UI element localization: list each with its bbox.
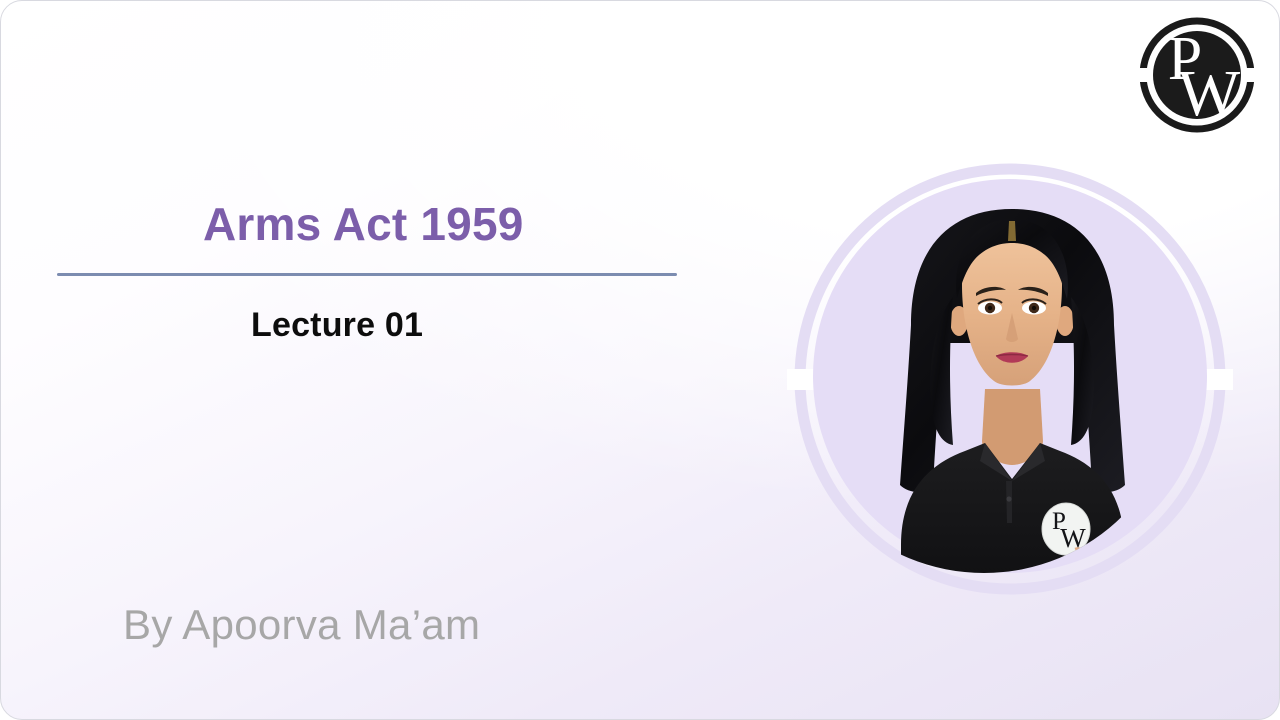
forearm-upper xyxy=(1061,561,1097,625)
instructor-portrait: P W JUDICIARY WALLAH xyxy=(849,193,1179,641)
pupil-left xyxy=(988,306,992,310)
title-block: Arms Act 1959 Lecture 01 xyxy=(57,197,697,345)
pw-logo-letter-w: W xyxy=(1178,57,1241,130)
lecture-subtitle: Lecture 01 xyxy=(57,276,697,345)
portrait-group: P W JUDICIARY WALLAH xyxy=(787,141,1233,609)
shirt-placket xyxy=(1006,481,1012,523)
forearm-lower xyxy=(918,587,1098,637)
sleeve-right xyxy=(1059,587,1107,627)
arms-shirt-base xyxy=(909,585,1107,641)
pw-logo-ring-gap-right xyxy=(1243,68,1259,82)
chest-pw-badge: P W xyxy=(1042,503,1090,555)
pupil-right xyxy=(1032,306,1036,310)
pw-logo-ring-gap-left xyxy=(1135,68,1151,82)
lecture-title-slide: P W JUDICIARY WALLAH Arms xyxy=(0,0,1280,720)
shirt-button xyxy=(1006,496,1011,501)
sleeve-left xyxy=(909,589,967,625)
hair-part-highlight xyxy=(1008,221,1016,241)
shirt-body xyxy=(901,443,1124,641)
presenter-credit: By Apoorva Ma’am xyxy=(123,601,480,649)
svg-text:W: W xyxy=(1060,523,1086,553)
page-title: Arms Act 1959 xyxy=(57,197,697,251)
hand xyxy=(1070,553,1091,590)
pw-logo: P W xyxy=(1133,11,1261,139)
